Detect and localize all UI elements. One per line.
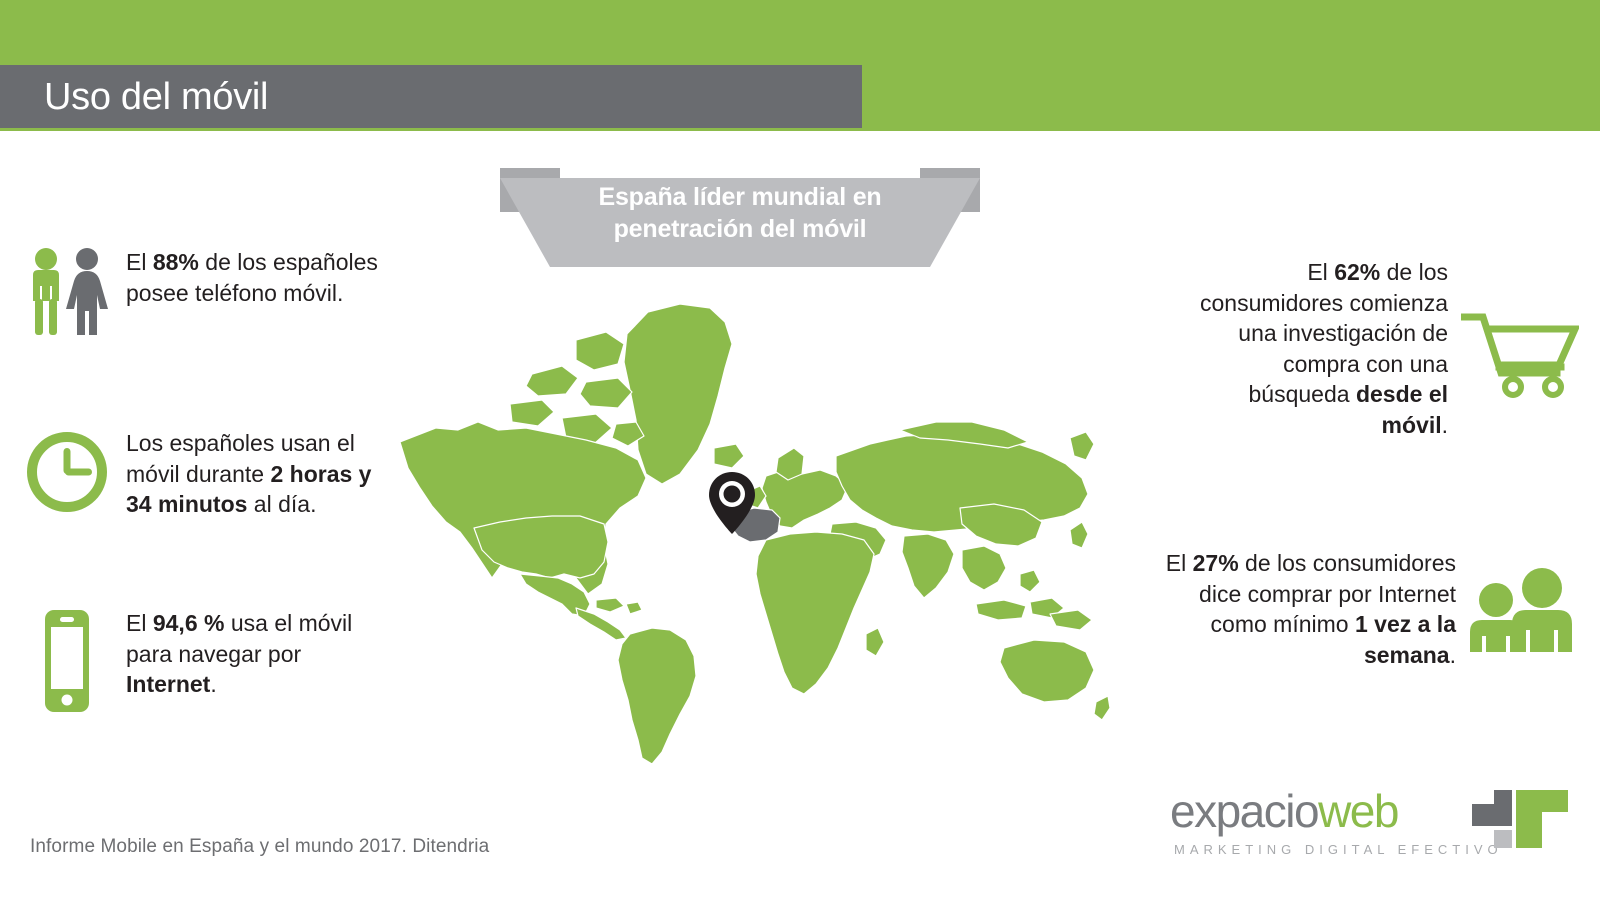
- stat-text-weekly-shoppers: El 27% de los consumidores dice comprar …: [1156, 548, 1456, 670]
- world-map: [380, 278, 1110, 768]
- stat-weekly-shoppers: El 27% de los consumidores dice comprar …: [1140, 548, 1580, 670]
- india: [902, 534, 954, 598]
- madagascar: [866, 628, 884, 656]
- people-man-woman-icon: [24, 247, 110, 339]
- arctic-islands-1: [576, 332, 624, 370]
- new-guinea: [1050, 610, 1092, 630]
- world-map-svg: [380, 278, 1110, 768]
- stat-daily-usage: Los españoles usan el móvil durante 2 ho…: [24, 428, 378, 520]
- clock-icon: [24, 428, 110, 516]
- arctic-islands-3: [580, 378, 632, 408]
- southeast-asia: [962, 546, 1006, 590]
- stat-mobile-ownership: El 88% de los españoles posee teléfono m…: [24, 247, 378, 339]
- stat-mobile-internet: El 94,6 % usa el móvil para navegar por …: [24, 608, 378, 714]
- philippines: [1020, 570, 1040, 592]
- smartphone-icon: [24, 608, 110, 714]
- infographic-slide: Uso del móvil España líder mundial en pe…: [0, 0, 1600, 900]
- australia: [1000, 640, 1094, 702]
- caribbean-1: [596, 598, 624, 612]
- logo-mark-icon: [1472, 790, 1570, 852]
- stat-purchase-research: El 62% de los consumidores comienza una …: [1155, 257, 1580, 440]
- logo-wordmark: expacioweb: [1170, 788, 1398, 834]
- kamchatka: [1070, 432, 1094, 460]
- expacioweb-logo[interactable]: expacioweb MARKETING DIGITAL EFECTIVO: [1170, 788, 1570, 868]
- stat-text-mobile-ownership: El 88% de los españoles posee teléfono m…: [126, 247, 378, 308]
- indonesia-1: [976, 600, 1026, 620]
- caribbean-2: [626, 602, 642, 614]
- source-citation: Informe Mobile en España y el mundo 2017…: [30, 836, 489, 858]
- central-america: [576, 608, 626, 640]
- two-users-icon: [1468, 568, 1580, 652]
- logo-text-web: web: [1318, 785, 1398, 837]
- woman-figure: [66, 248, 108, 335]
- arctic-islands-2: [526, 366, 578, 396]
- logo-tagline: MARKETING DIGITAL EFECTIVO: [1174, 842, 1503, 857]
- man-figure: [33, 248, 59, 335]
- stat-text-purchase-research: El 62% de los consumidores comienza una …: [1188, 257, 1448, 440]
- banner-line-1: España líder mundial en: [599, 181, 882, 213]
- japan: [1070, 522, 1088, 548]
- shopping-cart-icon: [1460, 303, 1580, 399]
- banner-ribbon: España líder mundial en penetración del …: [500, 168, 980, 268]
- arctic-islands-4: [510, 400, 554, 426]
- stat-text-daily-usage: Los españoles usan el móvil durante 2 ho…: [126, 428, 378, 520]
- iceland: [714, 444, 744, 468]
- new-zealand: [1094, 696, 1110, 720]
- scandinavia: [776, 448, 804, 480]
- banner-text: España líder mundial en penetración del …: [500, 168, 980, 257]
- page-title: Uso del móvil: [0, 78, 268, 116]
- south-america: [618, 628, 696, 764]
- logo-text-expacio: expacio: [1170, 785, 1318, 837]
- header-title-bar: Uso del móvil: [0, 65, 862, 128]
- stat-text-mobile-internet: El 94,6 % usa el móvil para navegar por …: [126, 608, 378, 700]
- banner-line-2: penetración del móvil: [614, 213, 867, 245]
- africa: [756, 532, 874, 694]
